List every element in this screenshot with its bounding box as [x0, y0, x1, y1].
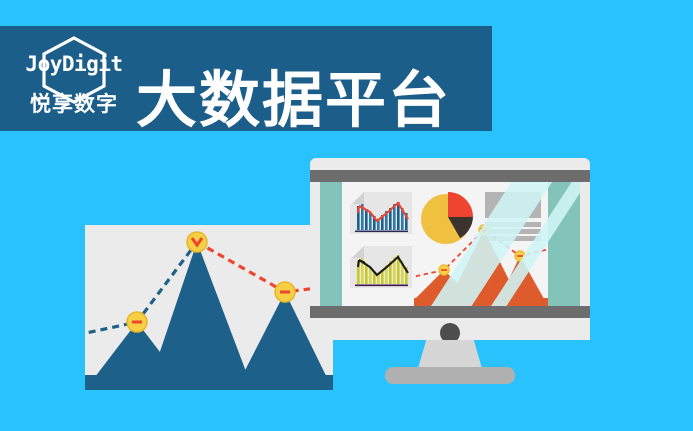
monitor-bottom-band [310, 306, 590, 318]
mountain-shape-center [147, 242, 253, 390]
monitor-top-band [310, 170, 590, 182]
monitor [310, 158, 590, 393]
page-title: 大数据平台 [136, 70, 451, 131]
left-chart-panel [85, 225, 333, 390]
olive-bar-chart [350, 246, 412, 288]
header-banner: JoyDigit 悦享数字 大数据平台 [0, 26, 492, 131]
monitor-screen [320, 182, 580, 306]
monitor-stand-base [385, 367, 515, 384]
blue-bar-card[interactable] [350, 192, 412, 234]
screen-side-strip-left [320, 182, 342, 306]
olive-bar-card[interactable] [350, 246, 412, 288]
logo: JoyDigit 悦享数字 [16, 32, 132, 126]
left-mountain-chart [85, 225, 333, 390]
blue-bar-chart [350, 192, 412, 234]
mountain-shape-base [85, 375, 333, 390]
poster-canvas: JoyDigit 悦享数字 大数据平台 [0, 0, 693, 431]
data-point-marker [187, 232, 207, 252]
logo-wordmark: JoyDigit [16, 54, 132, 75]
pie-slice-red [448, 192, 473, 217]
logo-subtitle: 悦享数字 [16, 94, 132, 115]
